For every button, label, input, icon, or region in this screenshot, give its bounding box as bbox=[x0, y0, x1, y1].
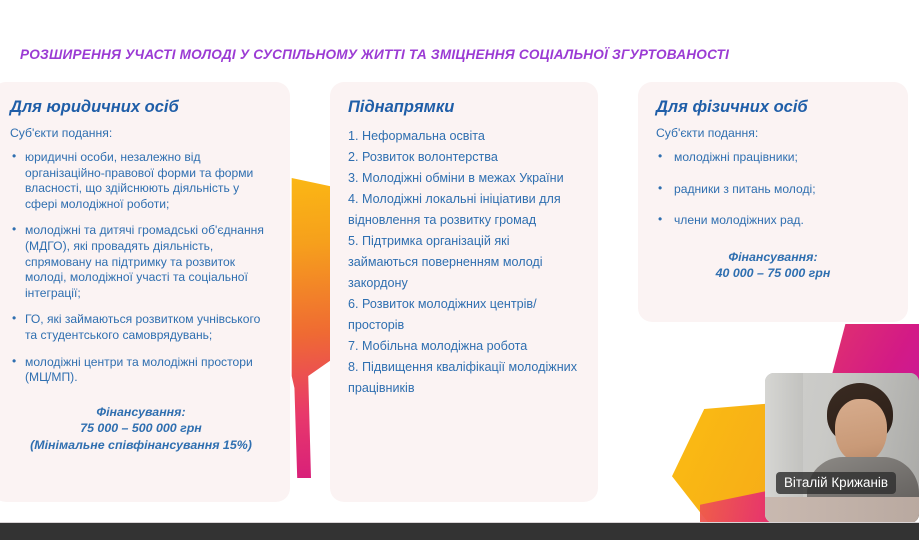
list-item: молодіжні та дитячі громадські об'єднанн… bbox=[10, 223, 272, 301]
card-legal-title: Для юридичних осіб bbox=[10, 98, 272, 117]
card-subdirections-title: Піднапрямки bbox=[348, 98, 580, 117]
card-legal-bullet-list: юридичні особи, незалежно від організаці… bbox=[10, 150, 272, 386]
list-item: радники з питань молоді; bbox=[656, 182, 890, 198]
list-item: 1. Неформальна освіта bbox=[348, 126, 580, 147]
card-legal-funding-amount: 75 000 – 500 000 грн bbox=[10, 420, 272, 437]
card-natural-persons: Для фізичних осіб Суб'єкти подання: моло… bbox=[638, 82, 908, 322]
card-natural-title: Для фізичних осіб bbox=[656, 98, 890, 117]
list-item: молодіжні центри та молодіжні простори (… bbox=[10, 355, 272, 386]
list-item: 7. Мобільна молодіжна робота bbox=[348, 336, 580, 357]
video-participant-name: Віталій Крижанів bbox=[776, 472, 896, 494]
video-bottom-strip bbox=[765, 497, 919, 523]
slide-stage: РОЗШИРЕННЯ УЧАСТІ МОЛОДІ У СУСПІЛЬНОМУ Ж… bbox=[0, 0, 919, 540]
bottom-toolbar[interactable] bbox=[0, 523, 919, 540]
card-subdirections-list: 1. Неформальна освіта 2. Розвиток волонт… bbox=[348, 126, 580, 399]
card-natural-funding-amount: 40 000 – 75 000 грн bbox=[656, 265, 890, 282]
card-legal-entities: Для юридичних осіб Суб'єкти подання: юри… bbox=[0, 82, 290, 502]
list-item: 2. Розвиток волонтерства bbox=[348, 147, 580, 168]
card-legal-funding-block: Фінансування: 75 000 – 500 000 грн (Міні… bbox=[10, 404, 272, 454]
list-item: юридичні особи, незалежно від організаці… bbox=[10, 150, 272, 212]
list-item: 4. Молодіжні локальні ініціативи для від… bbox=[348, 189, 580, 231]
card-natural-funding-label: Фінансування: bbox=[656, 249, 890, 266]
card-legal-lead: Суб'єкти подання: bbox=[10, 126, 272, 140]
card-natural-funding-block: Фінансування: 40 000 – 75 000 грн bbox=[656, 249, 890, 282]
video-person-face bbox=[835, 399, 887, 463]
video-participant-tile[interactable]: Віталій Крижанів bbox=[765, 373, 919, 523]
list-item: 6. Розвиток молодіжних центрів/ просторі… bbox=[348, 294, 580, 336]
list-item: ГО, які займаються розвитком учнівського… bbox=[10, 312, 272, 343]
decorative-gradient-blade-shape bbox=[288, 178, 334, 478]
list-item: члени молодіжних рад. bbox=[656, 213, 890, 229]
slide-title: РОЗШИРЕННЯ УЧАСТІ МОЛОДІ У СУСПІЛЬНОМУ Ж… bbox=[20, 47, 900, 62]
card-legal-funding-note: (Мінімальне співфінансування 15%) bbox=[10, 437, 272, 454]
card-natural-bullet-list: молодіжні працівники; радники з питань м… bbox=[656, 150, 890, 229]
list-item: 5. Підтримка організацій які займаються … bbox=[348, 231, 580, 294]
card-legal-funding-label: Фінансування: bbox=[10, 404, 272, 421]
card-natural-lead: Суб'єкти подання: bbox=[656, 126, 890, 140]
list-item: молодіжні працівники; bbox=[656, 150, 890, 166]
list-item: 3. Молодіжні обміни в межах України bbox=[348, 168, 580, 189]
list-item: 8. Підвищення кваліфікації молодіжних пр… bbox=[348, 357, 580, 399]
card-subdirections: Піднапрямки 1. Неформальна освіта 2. Роз… bbox=[330, 82, 598, 502]
